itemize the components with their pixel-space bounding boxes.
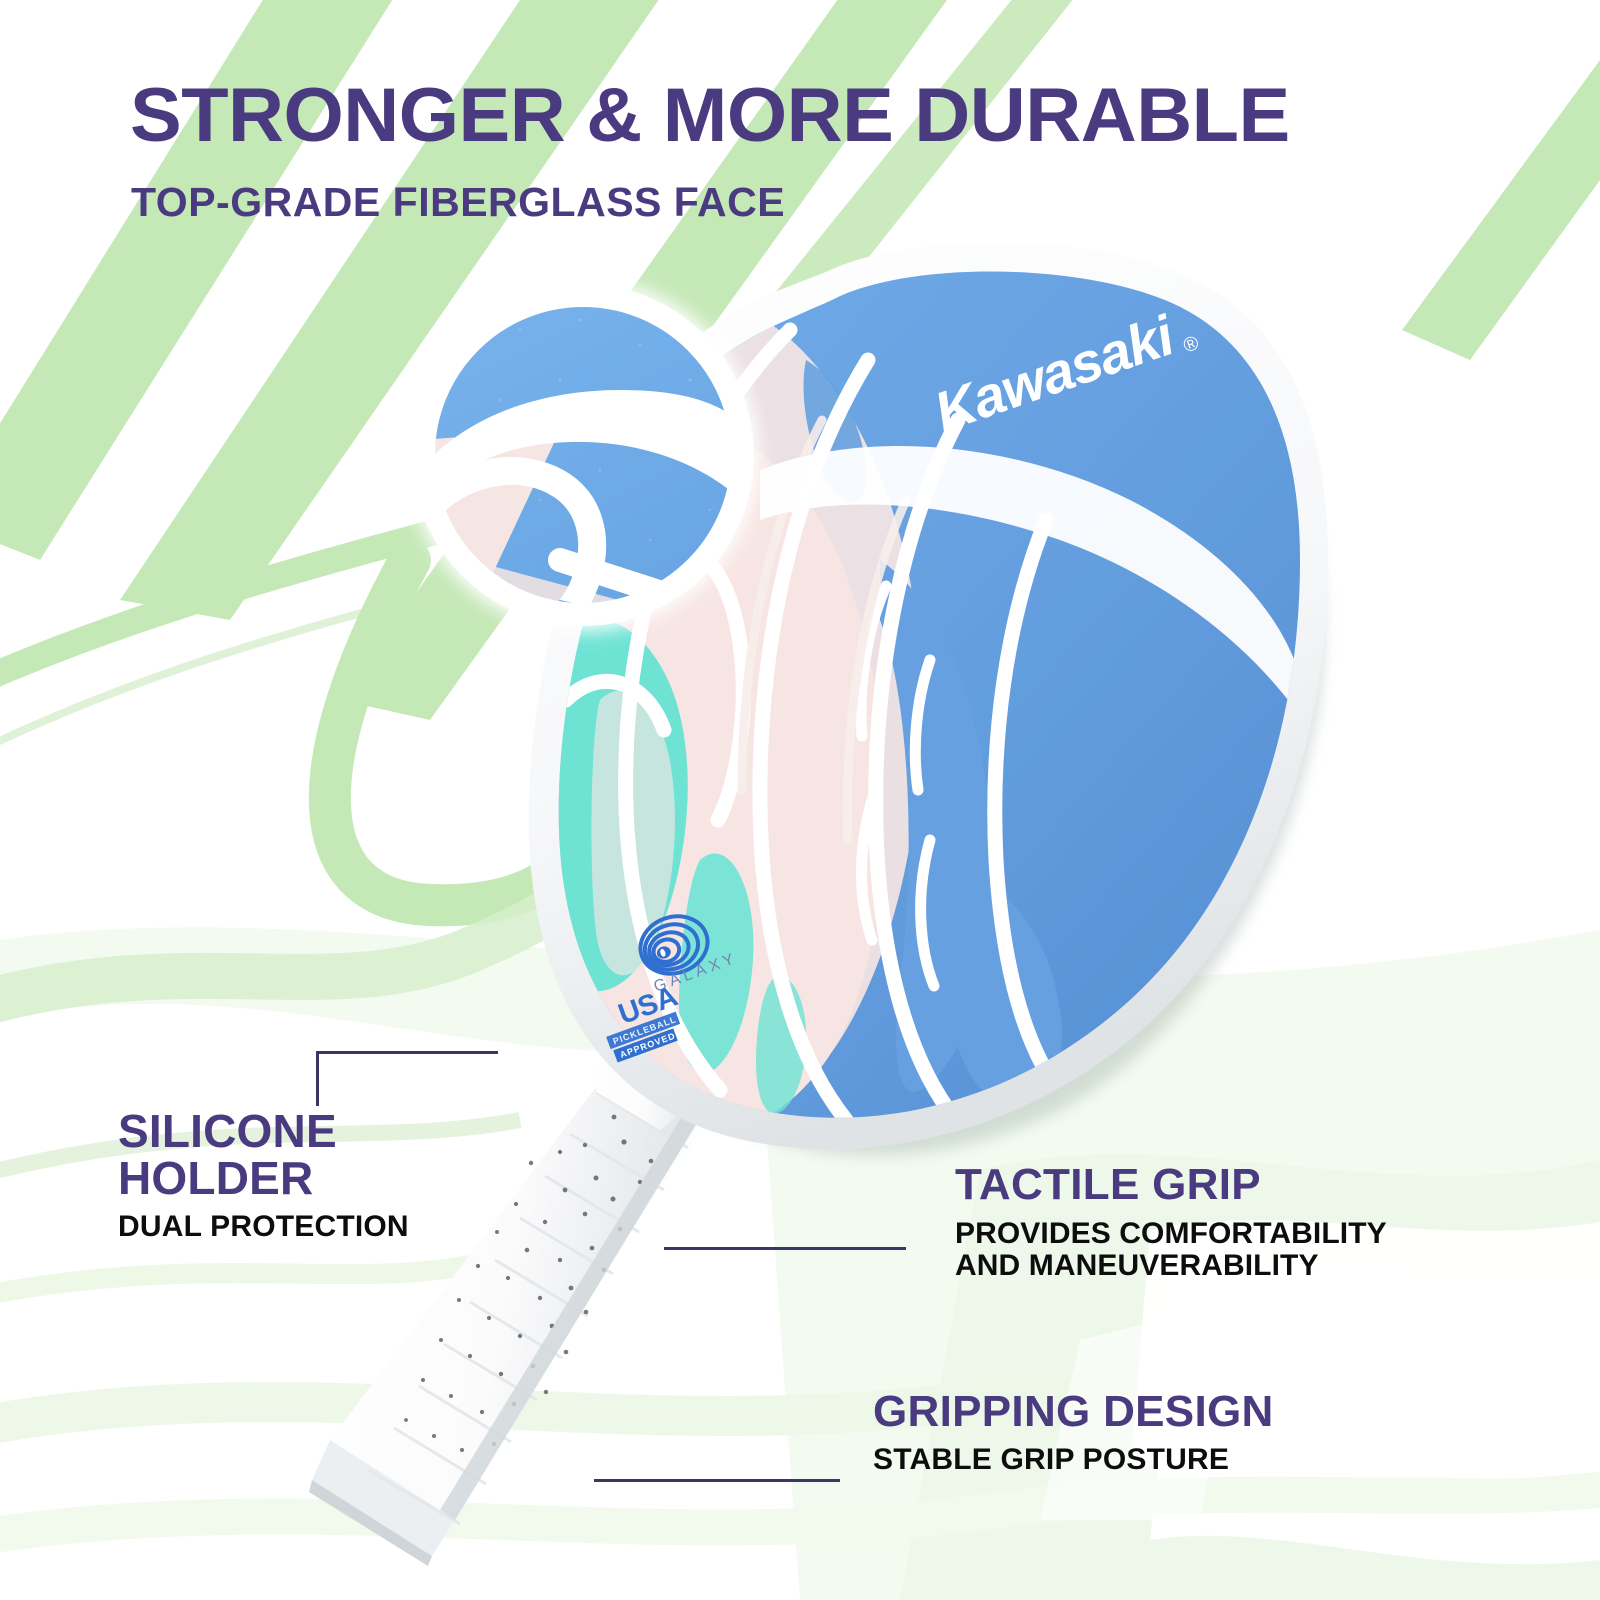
callout-gripping-design: GRIPPING DESIGN STABLE GRIP POSTURE [873,1390,1274,1476]
callout-tactile-title: TACTILE GRIP [955,1163,1387,1208]
leader-line-gripping [594,1479,840,1482]
callout-tactile-subtitle: PROVIDES COMFORTABILITY AND MANEUVERABIL… [955,1218,1387,1282]
callout-silicone-subtitle: DUAL PROTECTION [118,1211,409,1243]
page-title: STRONGER & MORE DURABLE [130,78,1290,154]
leader-line-silicone-horizontal [316,1051,498,1054]
infographic-canvas: STRONGER & MORE DURABLE TOP-GRADE FIBERG… [0,0,1600,1600]
magnifier-detail-circle [0,0,1600,1600]
callout-silicone-holder: SILICONE HOLDER DUAL PROTECTION [118,1108,409,1243]
page-subtitle: TOP-GRADE FIBERGLASS FACE [131,182,785,223]
leader-line-tactile [664,1247,906,1250]
leader-line-silicone-vertical [316,1051,319,1106]
callout-silicone-title: SILICONE HOLDER [118,1108,409,1202]
callout-tactile-grip: TACTILE GRIP PROVIDES COMFORTABILITY AND… [955,1163,1387,1282]
callout-gripping-title: GRIPPING DESIGN [873,1390,1274,1435]
callout-gripping-subtitle: STABLE GRIP POSTURE [873,1444,1274,1476]
